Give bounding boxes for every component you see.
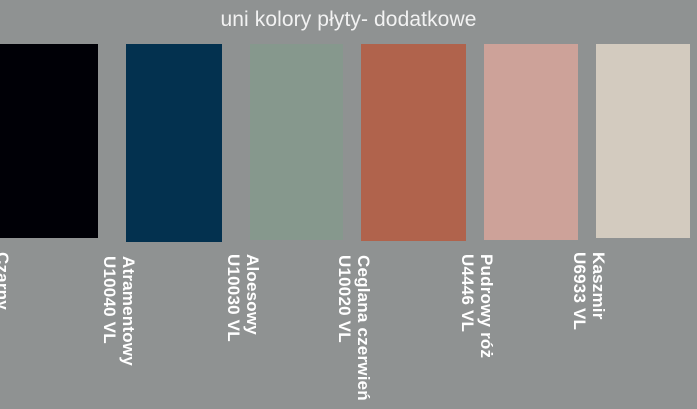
swatch-column[interactable]: AloesowyU10030 VL: [250, 44, 343, 240]
color-chip[interactable]: [596, 44, 690, 238]
swatch-code: U6933 VL: [570, 252, 589, 330]
color-chip[interactable]: [0, 44, 98, 238]
swatch-label: AloesowyU10030 VL: [224, 254, 262, 342]
swatch-column[interactable]: Pudrowy różU4446 VL: [484, 44, 578, 240]
swatch-name: Aloesowy: [243, 254, 262, 342]
swatch-label: KaszmirU6933 VL: [570, 252, 608, 330]
swatch-label: AtramentowyU10040 VL: [100, 256, 138, 366]
swatch-name: Pudrowy róż: [477, 254, 496, 358]
swatch-label: Pudrowy różU4446 VL: [458, 254, 496, 358]
color-chip[interactable]: [484, 44, 578, 240]
color-chip[interactable]: [250, 44, 343, 240]
swatch-column[interactable]: Ceglana czerwieńU10020 VL: [361, 44, 466, 241]
color-chip[interactable]: [126, 44, 222, 242]
swatch-code: U10030 VL: [224, 254, 243, 342]
swatch-name: Czarny: [0, 252, 12, 321]
swatch-code: U4446 VL: [458, 254, 477, 358]
swatch-column[interactable]: AtramentowyU10040 VL: [126, 44, 222, 242]
swatch-name: Ceglana czerwień: [354, 255, 373, 401]
swatch-label: Ceglana czerwieńU10020 VL: [335, 255, 373, 401]
swatch-code: U10040 VL: [100, 256, 119, 366]
color-chip[interactable]: [361, 44, 466, 241]
swatch-column[interactable]: CzarnyU190 PE: [0, 44, 98, 238]
swatch-name: Kaszmir: [589, 252, 608, 330]
color-palette-board: uni kolory płyty- dodatkowe CzarnyU190 P…: [0, 0, 697, 409]
swatch-code: U10020 VL: [335, 255, 354, 401]
swatch-label: CzarnyU190 PE: [0, 252, 12, 321]
page-title: uni kolory płyty- dodatkowe: [0, 8, 697, 32]
swatch-name: Atramentowy: [119, 256, 138, 366]
swatch-column[interactable]: KaszmirU6933 VL: [596, 44, 690, 238]
